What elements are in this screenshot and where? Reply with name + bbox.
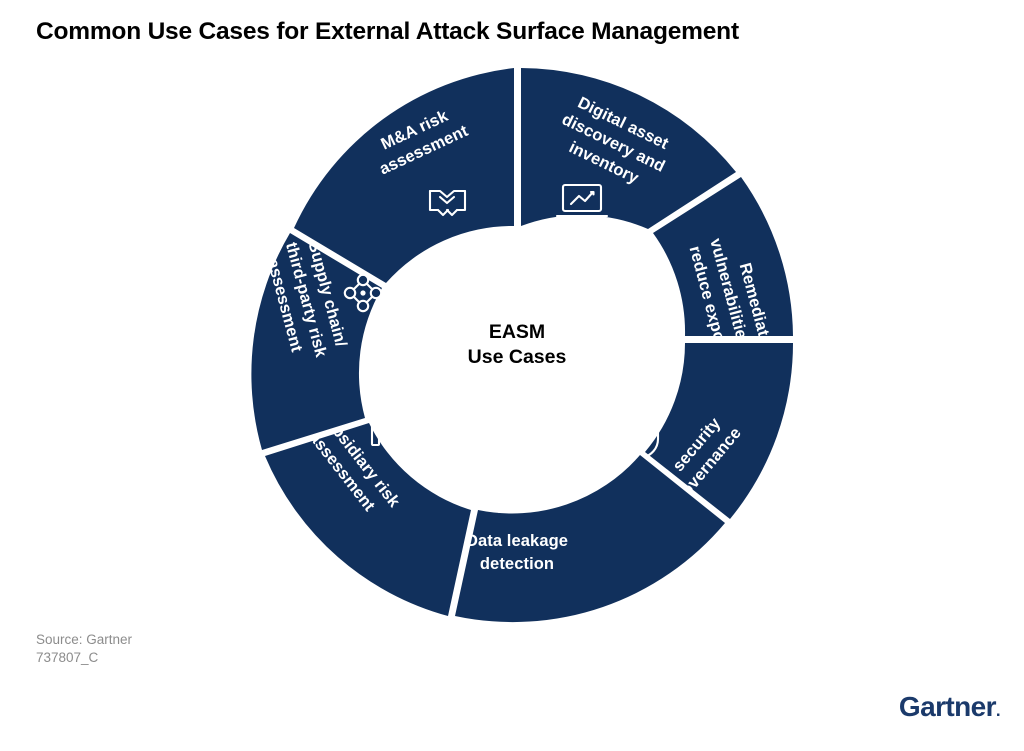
segment-wedge[interactable] <box>294 68 514 283</box>
donut-svg: Digital asset discovery and inventory Re… <box>0 0 1024 700</box>
center-label-line-1: EASM <box>489 321 545 343</box>
center-label: EASM Use Cases <box>468 321 567 368</box>
shield-lock-icon <box>628 420 658 458</box>
donut-chart: Digital asset discovery and inventory Re… <box>0 0 1024 700</box>
document-search-icon <box>499 478 529 512</box>
segment-label-line-1: Data leakage <box>466 532 568 550</box>
segment-label-line-2: detection <box>480 555 554 573</box>
warning-triangle-icon <box>644 290 678 320</box>
infographic-page: Common Use Cases for External Attack Sur… <box>0 0 1024 751</box>
segment-wedge[interactable] <box>265 423 471 616</box>
gartner-logo: Gartner. <box>899 691 1000 723</box>
center-label-line-2: Use Cases <box>468 346 567 368</box>
document-code: 737807_C <box>36 650 98 665</box>
gartner-logo-text: Gartner <box>899 691 996 722</box>
segment-ma-risk-assessment[interactable]: M&A risk assessment <box>294 68 514 283</box>
source-note: Source: Gartner <box>36 629 132 650</box>
gartner-logo-mark: . <box>996 701 1000 720</box>
